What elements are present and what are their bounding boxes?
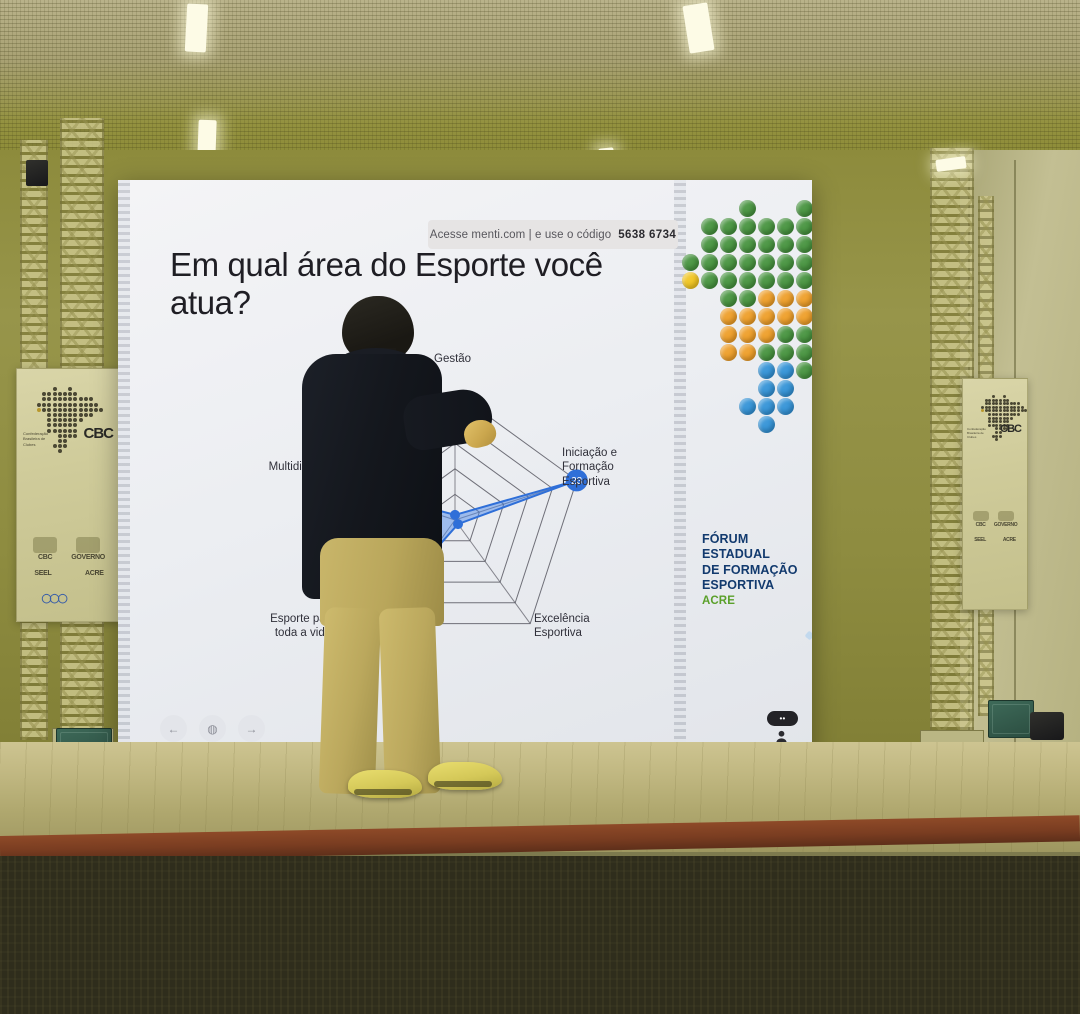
- banner-map-dot: [79, 408, 83, 412]
- banner-map-dot: [63, 423, 67, 427]
- map-dot: [701, 254, 718, 271]
- map-dot: [758, 290, 775, 307]
- map-dot: [796, 308, 812, 325]
- banner-map-dot: [988, 413, 991, 416]
- banner-map-dot: [58, 392, 62, 396]
- speaker-box-right: [1030, 712, 1064, 740]
- banner-map-dot: [999, 417, 1002, 420]
- banner-map-dot: [1003, 395, 1006, 398]
- event-title-line: ESPORTIVA: [702, 578, 774, 592]
- banner-map-dot: [995, 431, 998, 434]
- map-dot: [701, 218, 718, 235]
- banner-map-dot: [1006, 402, 1009, 405]
- map-dot: [739, 200, 756, 217]
- banner-map-dot: [47, 418, 51, 422]
- banner-map-dot: [73, 434, 77, 438]
- banner-map-dot: [68, 392, 72, 396]
- banner-map-dot: [1013, 409, 1016, 412]
- previous-slide-button[interactable]: ←: [160, 715, 187, 742]
- screen-panel-seam: [118, 180, 130, 760]
- banner-map-dot: [995, 399, 998, 402]
- presenter-leg-left: [319, 607, 381, 795]
- map-dot: [777, 272, 794, 289]
- banner-map-dot: [992, 399, 995, 402]
- map-dot: [739, 290, 756, 307]
- map-dot: [758, 254, 775, 271]
- banner-map-dot: [99, 408, 103, 412]
- stage-front-panel: [0, 856, 1080, 1014]
- banner-map-dot: [73, 408, 77, 412]
- sponsor-banner-right: CBC Confederação Brasileira de Clubes CB…: [962, 378, 1028, 610]
- banner-map-dot: [1021, 409, 1024, 412]
- banner-map-dot: [995, 435, 998, 438]
- map-dot: [739, 308, 756, 325]
- map-dot: [796, 290, 812, 307]
- map-dot: [682, 272, 699, 289]
- banner-map-dot: [1010, 402, 1013, 405]
- map-dot: [777, 380, 794, 397]
- banner-map-dot: [985, 406, 988, 409]
- banner-map-dot: [53, 423, 57, 427]
- banner-map-dot: [58, 408, 62, 412]
- banner-map-dot: [992, 413, 995, 416]
- banner-map-dot: [1006, 406, 1009, 409]
- banner-map-dot: [1003, 409, 1006, 412]
- map-dot: [777, 254, 794, 271]
- banner-map-dot: [73, 418, 77, 422]
- equipment-case-right: [988, 700, 1034, 738]
- banner-map-dot: [68, 418, 72, 422]
- banner-map-dot: [58, 413, 62, 417]
- banner-map-dot: [53, 408, 57, 412]
- map-dot: [796, 236, 812, 253]
- event-title: FÓRUM ESTADUAL DE FORMAÇÃO ESPORTIVA ACR…: [702, 532, 812, 608]
- map-dot: [720, 218, 737, 235]
- banner-map-dot: [73, 429, 77, 433]
- banner-map-dot: [63, 413, 67, 417]
- map-dot: [739, 236, 756, 253]
- map-dot: [777, 398, 794, 415]
- map-dot: [739, 344, 756, 361]
- map-dot: [777, 290, 794, 307]
- map-dot: [682, 254, 699, 271]
- banner-map-dot: [985, 402, 988, 405]
- banner-map-dot: [981, 406, 984, 409]
- banner-map-dot: [94, 403, 98, 407]
- banner-map-dot: [68, 423, 72, 427]
- map-dot: [758, 308, 775, 325]
- banner-map-dot: [73, 423, 77, 427]
- banner-map-dot: [1003, 402, 1006, 405]
- banner-map-dot: [1017, 402, 1020, 405]
- event-title-line: ESTADUAL: [702, 547, 770, 561]
- map-dot: [739, 272, 756, 289]
- banner-map-dot: [73, 413, 77, 417]
- next-slide-button[interactable]: →: [238, 715, 265, 742]
- banner-map-dot: [1010, 406, 1013, 409]
- event-artwork-panel: FÓRUM ESTADUAL DE FORMAÇÃO ESPORTIVA ACR…: [686, 180, 812, 760]
- map-dot: [720, 290, 737, 307]
- banner-map-dot: [37, 408, 41, 412]
- map-dot: [777, 344, 794, 361]
- map-dot: [758, 218, 775, 235]
- banner-map-dot: [988, 402, 991, 405]
- caption-line: Confederação: [23, 431, 48, 436]
- banner-map-dot: [995, 413, 998, 416]
- banner-map-dot: [58, 403, 62, 407]
- banner-map-dot: [985, 399, 988, 402]
- banner-map-dot: [1006, 409, 1009, 412]
- banner-map-dot: [73, 403, 77, 407]
- banner-map-dot: [79, 413, 83, 417]
- banner-map-dot: [79, 403, 83, 407]
- banner-map-dot: [1021, 406, 1024, 409]
- banner-map-dot: [988, 420, 991, 423]
- map-dot: [701, 272, 718, 289]
- banner-map-dot: [981, 409, 984, 412]
- map-dot: [758, 416, 775, 433]
- map-dot: [796, 218, 812, 235]
- map-dot: [720, 236, 737, 253]
- map-dot: [739, 398, 756, 415]
- map-dot: [777, 218, 794, 235]
- banner-map-dot: [68, 387, 72, 391]
- conference-stage-scene: CBC Confederação Brasileira de Clubes CB…: [0, 0, 1080, 1014]
- map-dot: [701, 236, 718, 253]
- banner-map-dot: [79, 418, 83, 422]
- banner-map-dot: [42, 392, 46, 396]
- banner-map-dot: [47, 423, 51, 427]
- banner-map-dot: [68, 434, 72, 438]
- map-dot: [777, 326, 794, 343]
- banner-map-dot: [1003, 406, 1006, 409]
- banner-map-dot: [63, 418, 67, 422]
- banner-map-dot: [53, 403, 57, 407]
- map-dot: [758, 272, 775, 289]
- banner-map-dot: [37, 403, 41, 407]
- banner-map-dot: [992, 409, 995, 412]
- banner-map-dot: [1006, 413, 1009, 416]
- banner-map-dot: [988, 399, 991, 402]
- banner-map-dot: [999, 409, 1002, 412]
- banner-cbc-logo: CBC: [1000, 423, 1021, 607]
- banner-map-dot: [992, 395, 995, 398]
- banner-map-dot: [995, 402, 998, 405]
- banner-map-dot: [1017, 413, 1020, 416]
- banner-caption: Confederação Brasileira de Clubes: [23, 431, 65, 617]
- map-dot: [796, 362, 812, 379]
- presenter-shoe-left: [348, 770, 422, 798]
- banner-map-dot: [999, 406, 1002, 409]
- banner-map-dot: [68, 413, 72, 417]
- speaker-box-left: [26, 160, 48, 186]
- highlight-button[interactable]: ◍: [199, 715, 226, 742]
- presenter-shoe-right: [428, 762, 502, 790]
- banner-map-dot: [995, 424, 998, 427]
- banner-map-dot: [47, 403, 51, 407]
- banner-map-dot: [995, 438, 998, 441]
- banner-map-dot: [992, 420, 995, 423]
- banner-map-dot: [1017, 406, 1020, 409]
- presenter-legs: [320, 538, 444, 786]
- banner-map-dot: [89, 403, 93, 407]
- presenter: [296, 296, 508, 810]
- banner-map-dot: [53, 418, 57, 422]
- banner-map-dot: [84, 413, 88, 417]
- banner-map-dot: [63, 392, 67, 396]
- banner-map-dot: [985, 409, 988, 412]
- map-dot: [796, 254, 812, 271]
- banner-map-dot: [68, 429, 72, 433]
- banner-map-dot: [1006, 399, 1009, 402]
- map-dot: [758, 236, 775, 253]
- banner-map-dot: [1024, 409, 1027, 412]
- vote-count-badge[interactable]: ••: [767, 711, 798, 726]
- banner-map-dot: [84, 403, 88, 407]
- banner-map-dot: [1010, 417, 1013, 420]
- banner-map-dot: [47, 408, 51, 412]
- presenter-leg-right: [379, 607, 441, 795]
- banner-map-dot: [68, 397, 72, 401]
- caption-line: Brasileira de: [23, 436, 45, 441]
- banner-map-dot: [58, 397, 62, 401]
- banner-map-dot: [999, 399, 1002, 402]
- banner-map-dot: [992, 417, 995, 420]
- banner-map-dot: [53, 392, 57, 396]
- banner-map-dot: [1010, 409, 1013, 412]
- banner-map-dot: [89, 397, 93, 401]
- map-dot: [777, 236, 794, 253]
- banner-map-dot: [995, 420, 998, 423]
- banner-map-dot: [63, 397, 67, 401]
- banner-map-dot: [53, 387, 57, 391]
- banner-map-dot: [79, 397, 83, 401]
- join-instruction: Acesse menti.com | e use o código: [430, 229, 611, 241]
- banner-map-dot: [84, 408, 88, 412]
- banner-map-dot: [68, 403, 72, 407]
- banner-map-dot: [53, 413, 57, 417]
- map-dot: [720, 308, 737, 325]
- map-dot: [758, 398, 775, 415]
- banner-map-dot: [94, 408, 98, 412]
- map-dot: [739, 218, 756, 235]
- map-dot: [739, 254, 756, 271]
- slide-navigation[interactable]: ← ◍ →: [160, 715, 265, 742]
- map-dot: [739, 326, 756, 343]
- banner-map-dot: [68, 408, 72, 412]
- banner-map-dot: [47, 392, 51, 396]
- map-dot: [758, 326, 775, 343]
- map-dot: [720, 254, 737, 271]
- banner-map-dot: [1006, 417, 1009, 420]
- banner-map-dot: [988, 406, 991, 409]
- banner-map-dot: [73, 392, 77, 396]
- axis-label-excelencia: ExcelênciaEsportiva: [534, 612, 630, 641]
- map-dot: [777, 308, 794, 325]
- map-dot: [796, 344, 812, 361]
- sponsor-banner-left: CBC Confederação Brasileira de Clubes CB…: [16, 368, 122, 622]
- banner-map-dot: [47, 397, 51, 401]
- map-dot: [720, 344, 737, 361]
- banner-map-dot: [58, 423, 62, 427]
- banner-map-dot: [1003, 413, 1006, 416]
- banner-map-dot: [58, 418, 62, 422]
- banner-map-dot: [1013, 402, 1016, 405]
- banner-map-dot: [992, 406, 995, 409]
- banner-map-dot: [995, 427, 998, 430]
- banner-map-dot: [999, 402, 1002, 405]
- map-dot: [758, 380, 775, 397]
- map-dot: [777, 362, 794, 379]
- map-dot: [796, 200, 812, 217]
- banner-map-dot: [988, 409, 991, 412]
- banner-map-dot: [63, 408, 67, 412]
- banner-map-dot: [42, 408, 46, 412]
- join-code: 5638 6734: [618, 229, 676, 241]
- map-dot: [720, 272, 737, 289]
- banner-map-dot: [1013, 406, 1016, 409]
- banner-map-dot: [63, 403, 67, 407]
- banner-map-dot: [42, 397, 46, 401]
- ceiling-light: [185, 3, 208, 52]
- map-dot: [720, 326, 737, 343]
- banner-map-dot: [73, 397, 77, 401]
- caption-line: Clubes: [967, 435, 976, 439]
- banner-map-dot: [995, 406, 998, 409]
- map-dot: [758, 344, 775, 361]
- map-dot: [758, 362, 775, 379]
- banner-map-dot: [1003, 399, 1006, 402]
- event-title-line: DE FORMAÇÃO: [702, 563, 798, 577]
- event-title-line: FÓRUM: [702, 532, 748, 546]
- banner-map-dot: [1003, 417, 1006, 420]
- axis-label-iniciacao: Iniciação eFormaçãoEsportiva: [562, 446, 662, 489]
- event-subtitle: ACRE: [702, 595, 735, 607]
- banner-map-dot: [53, 397, 57, 401]
- banner-map-dot: [42, 403, 46, 407]
- banner-map-dot: [999, 413, 1002, 416]
- caption-line: Clubes: [23, 442, 35, 447]
- banner-map-dot: [1013, 413, 1016, 416]
- banner-map-dot: [89, 408, 93, 412]
- banner-cbc-logo: CBC: [84, 425, 114, 619]
- banner-map-dot: [89, 413, 93, 417]
- map-dot: [796, 272, 812, 289]
- banner-map-dot: [1017, 409, 1020, 412]
- banner-caption: Confederação Brasileira de Clubes: [967, 427, 995, 605]
- banner-map-dot: [1010, 413, 1013, 416]
- banner-map-dot: [995, 409, 998, 412]
- brazil-dotmap-art: [676, 180, 812, 760]
- map-dot: [796, 326, 812, 343]
- banner-map-dot: [992, 402, 995, 405]
- banner-map-dot: [988, 417, 991, 420]
- banner-map-dot: [995, 417, 998, 420]
- banner-map-dot: [84, 397, 88, 401]
- banner-map-dot: [47, 413, 51, 417]
- join-code-banner: Acesse menti.com | e use o código 5638 6…: [428, 220, 678, 249]
